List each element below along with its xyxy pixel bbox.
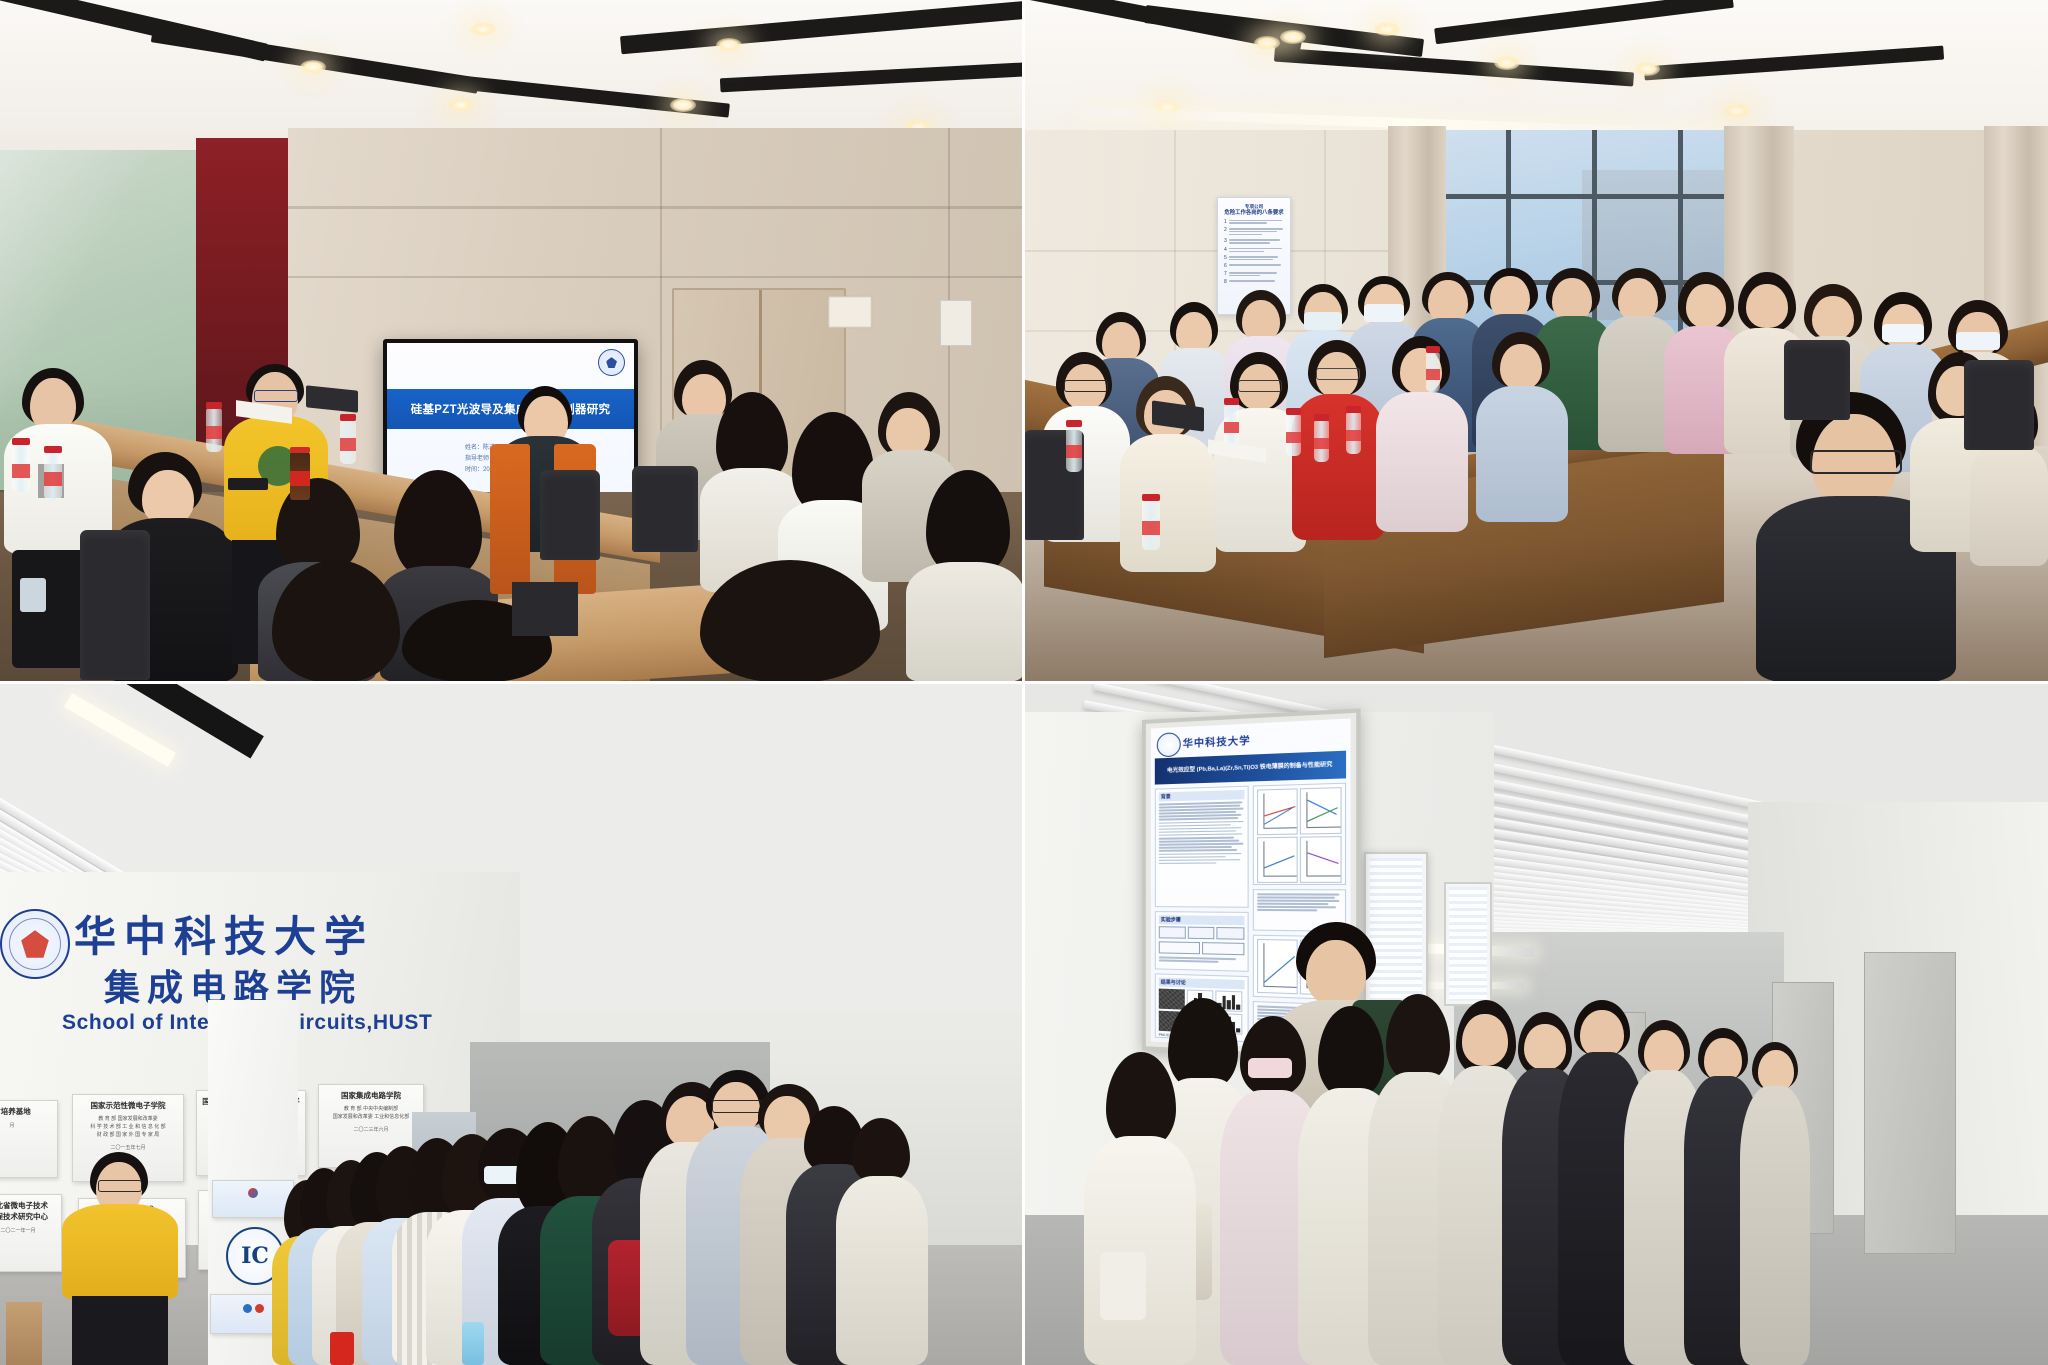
flowchart	[1159, 926, 1245, 940]
ceiling-gap	[0, 682, 264, 759]
plaque-title: 国家集成电路学院	[323, 1090, 419, 1101]
notice-item-number: 4	[1224, 248, 1227, 254]
poster-section-background: 背景	[1155, 786, 1249, 908]
plaque-date: 月	[0, 1122, 53, 1129]
notice-item: 8	[1224, 280, 1284, 285]
poster-board-3	[1444, 882, 1492, 1006]
student-16	[836, 1118, 928, 1365]
plaque-date: 二〇二三年六月	[323, 1126, 419, 1133]
eyeglasses	[1064, 380, 1108, 392]
poster-university: 华中科技大学	[1183, 732, 1251, 750]
face-mask	[1882, 324, 1924, 342]
notice-item-number: 2	[1224, 228, 1227, 237]
face-mask	[1248, 1058, 1292, 1078]
wall-control-panel[interactable]	[940, 300, 972, 346]
water-bottle	[1314, 420, 1329, 462]
face-mask	[1304, 312, 1342, 330]
eyeglasses	[98, 1180, 142, 1192]
smartphone	[20, 578, 46, 612]
poster-section-heading: 实验步骤	[1159, 915, 1245, 925]
person-mid-5	[1376, 336, 1468, 532]
plaque: 才培养基地 月	[0, 1100, 58, 1178]
office-chair	[632, 466, 698, 552]
notice-item: 3	[1224, 239, 1284, 245]
notice-heading-2: 危险工作各岗的八条要求	[1224, 210, 1284, 217]
notice-item: 5	[1224, 256, 1284, 262]
line-chart	[1257, 788, 1298, 835]
plaque-date: 二〇一五年七月	[77, 1144, 179, 1151]
notice-item-number: 1	[1224, 220, 1227, 226]
hust-ic-seal-icon	[0, 909, 70, 979]
plaque-title: 国家示范性微电子学院	[77, 1100, 179, 1111]
face-mask	[1956, 332, 2000, 350]
door[interactable]	[1864, 952, 1956, 1254]
ceiling-downlight	[1374, 22, 1400, 36]
water-bottle	[1066, 426, 1082, 472]
notice-item: 4	[1224, 248, 1284, 254]
water-bottle	[12, 444, 30, 492]
water-bottle	[206, 408, 222, 452]
water-bottle	[340, 420, 356, 464]
panel-bottom-right: 华中科技大学 电光效应型 (Pb,Ba,La)(Zr,Sn,Ti)O3 铁电薄膜…	[1024, 682, 2048, 1365]
water-bottle	[1286, 414, 1301, 456]
plaque-title: 湖北省微电子技术 工程技术研究中心	[0, 1200, 57, 1222]
notice-item: 7	[1224, 272, 1284, 278]
panel-top-left: 硅基PZT光波导及集成电光调制器研究 姓名：陈进 指导老师：董文 时间：2024…	[0, 0, 1024, 682]
ceiling-downlight	[1494, 56, 1520, 70]
office-chair	[540, 470, 600, 560]
poster-section-heading: 结果与讨论	[1159, 978, 1245, 990]
notice-heading-1: 专项公司	[1224, 203, 1284, 210]
poster-title-bar: 电光效应型 (Pb,Ba,La)(Zr,Sn,Ti)O3 铁电薄膜的制备与性能研…	[1155, 751, 1346, 785]
notice-item: 2	[1224, 228, 1284, 237]
eyeglasses	[1238, 380, 1282, 392]
partner-logo-icon	[243, 1304, 252, 1313]
person-viewer-2	[1084, 1052, 1196, 1365]
water-bottle	[1426, 352, 1440, 392]
ceiling-downlight	[716, 38, 742, 52]
ceiling-downlight	[470, 22, 496, 36]
ceiling-downlight	[300, 60, 326, 74]
person-foreground-head	[266, 560, 406, 682]
banner-chinese-line-1: 华中科技大学	[74, 903, 374, 964]
office-chair	[1964, 360, 2034, 450]
ceiling-downlight	[1254, 36, 1280, 50]
office-chair	[1784, 340, 1850, 420]
water-bottle	[1224, 404, 1239, 446]
door-notice-plate	[828, 296, 872, 328]
poster-section-heading: 背景	[1159, 790, 1245, 802]
poster-body-text	[1159, 801, 1245, 864]
line-chart-2	[1300, 787, 1342, 834]
eyeglasses	[1316, 368, 1360, 380]
face-mask	[1364, 304, 1404, 322]
plaque-date: 二〇二一年一月	[0, 1227, 57, 1234]
photo-collage: 硅基PZT光波导及集成电光调制器研究 姓名：陈进 指导老师：董文 时间：2024…	[0, 0, 2048, 1365]
plaque-issuers: 教 育 部 中央中央编制部 国家发展和改革委 工业和信息化部	[323, 1105, 419, 1121]
person-mid-6	[1476, 332, 1568, 522]
orange-jacket	[490, 444, 530, 594]
school-banner: 华中科技大学 集成电路学院 School of Integrated Circu…	[0, 897, 352, 1082]
office-chair	[80, 530, 150, 680]
bench	[6, 1302, 42, 1365]
notice-item-number: 8	[1224, 280, 1227, 285]
person-guide-yellow-shirt	[62, 1152, 178, 1365]
person-viewer-11	[1740, 1042, 1810, 1365]
notice-item: 6	[1224, 264, 1284, 269]
hust-seal-icon	[1157, 732, 1181, 757]
ceiling-downlight	[1280, 30, 1306, 44]
line-chart-3	[1257, 837, 1298, 883]
water-bottle	[1346, 412, 1361, 454]
poster-section-steps: 实验步骤	[1155, 911, 1249, 972]
notice-item-number: 5	[1224, 256, 1227, 262]
wall-seam	[288, 276, 1024, 278]
panel-bottom-left: 华中科技大学 集成电路学院 School of Integrated Circu…	[0, 682, 1024, 1365]
ceiling-downlight	[670, 98, 696, 112]
panel-top-right: 专项公司 危险工作各岗的八条要求 1 2 3 4 5 6 7 8	[1024, 0, 2048, 682]
poster-title: 电光效应型 (Pb,Ba,La)(Zr,Sn,Ti)O3 铁电薄膜的制备与性能研…	[1167, 761, 1332, 775]
poster-charts-top	[1253, 783, 1346, 885]
eyeglasses	[1810, 450, 1902, 474]
ceiling-downlight	[1634, 62, 1660, 76]
water-bottle-red	[330, 1332, 354, 1365]
notice-item: 1	[1224, 220, 1284, 226]
plaque-title: 才培养基地	[0, 1106, 53, 1117]
person-mid-4-red	[1292, 340, 1384, 540]
notice-item-number: 7	[1224, 272, 1227, 278]
partner-logo-icon-2	[255, 1304, 264, 1313]
water-bottle-blue	[462, 1322, 484, 1365]
plaque: 湖北省微电子技术 工程技术研究中心 二〇二一年一月	[0, 1194, 62, 1272]
eyeglasses	[254, 390, 298, 402]
smartphone	[228, 478, 268, 490]
tote-bag	[1100, 1252, 1146, 1320]
cola-bottle	[290, 452, 310, 500]
collage-vertical-seam	[1022, 0, 1025, 1365]
person-foreground-right	[700, 560, 880, 682]
ceiling-downlight	[448, 98, 474, 112]
notice-item-number: 6	[1224, 264, 1227, 269]
wall-seam	[288, 206, 1024, 209]
water-bottle	[1142, 500, 1160, 550]
plaque-issuers: 教 育 部 国家发展和改革委 科 学 技 术 部 工 业 和 信 息 化 部 财…	[77, 1115, 179, 1139]
hust-seal-icon	[598, 349, 625, 376]
partner-logo-icon	[248, 1188, 258, 1198]
person-seated-right-5	[906, 470, 1024, 682]
notice-item-number: 3	[1224, 239, 1227, 245]
water-bottle	[44, 452, 62, 500]
ceiling-downlight	[1724, 104, 1750, 118]
line-chart-4	[1300, 836, 1342, 883]
